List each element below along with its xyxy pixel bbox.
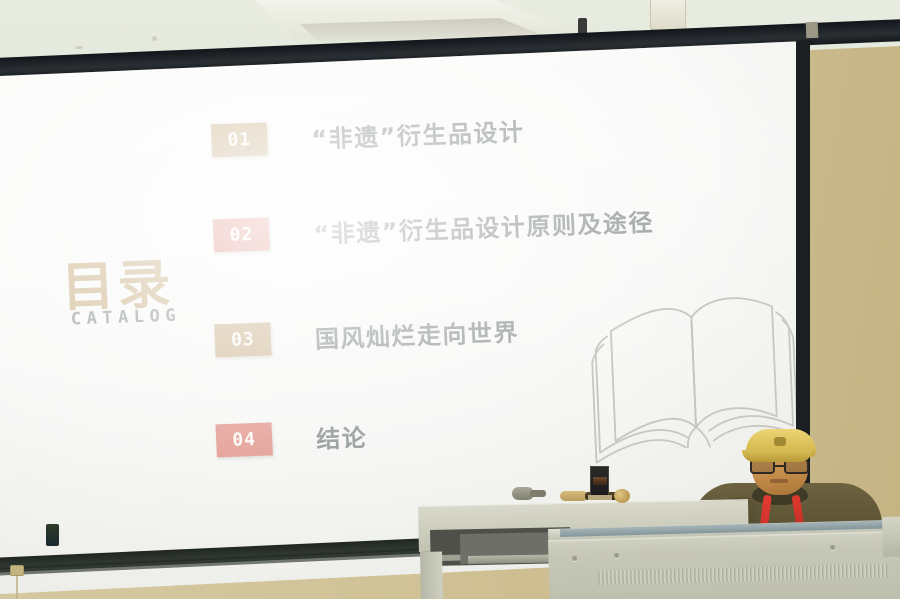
wall-wire [16, 576, 18, 599]
list-item-label: “非遗”衍生品设计 [311, 112, 525, 155]
page-subtitle: CATALOG [70, 306, 181, 330]
status-badge: 03 [214, 322, 271, 357]
list-item-label: 结论 [315, 418, 367, 455]
lectern-right-module [882, 516, 900, 557]
list-item[interactable]: 03 国风灿烂走向世界 [214, 312, 519, 358]
list-item-label: 国风灿烂走向世界 [314, 312, 519, 354]
list-item[interactable]: 02 “非遗”衍生品设计原则及途径 [213, 203, 655, 254]
desk-microphone-neck [530, 490, 546, 497]
cap-logo [774, 437, 786, 446]
lectern-screw [614, 553, 619, 558]
screen-roller-cap [806, 22, 819, 38]
presenter-mouth [770, 479, 788, 483]
status-badge: 04 [216, 422, 273, 457]
wall-socket-icon [10, 565, 24, 576]
microphone-knob [614, 489, 630, 503]
list-item-label: “非遗”衍生品设计原则及途径 [313, 203, 655, 250]
ceiling-junction-box-icon [650, 0, 686, 30]
list-item[interactable]: 01 “非遗”衍生品设计 [211, 112, 525, 158]
wall-mark [75, 46, 83, 49]
lectern-screw [572, 556, 577, 561]
glasses-bridge [775, 465, 784, 467]
list-item[interactable]: 04 结论 [215, 418, 367, 458]
lectern-side-panel [420, 552, 443, 599]
control-monitor-base [588, 495, 612, 500]
gooseneck-microphone-body [560, 491, 588, 501]
wall-mark [152, 36, 157, 41]
lectern-screw [830, 545, 835, 550]
small-object [46, 524, 59, 546]
status-badge: 02 [213, 217, 270, 252]
status-badge: 01 [211, 122, 268, 157]
control-monitor[interactable] [590, 466, 609, 496]
cap-brim [742, 450, 812, 462]
lecture-hall-photo: 目录 CATALOG 01 “非遗”衍生品设计 02 “非遗”衍生品设计原则及途… [0, 0, 900, 599]
